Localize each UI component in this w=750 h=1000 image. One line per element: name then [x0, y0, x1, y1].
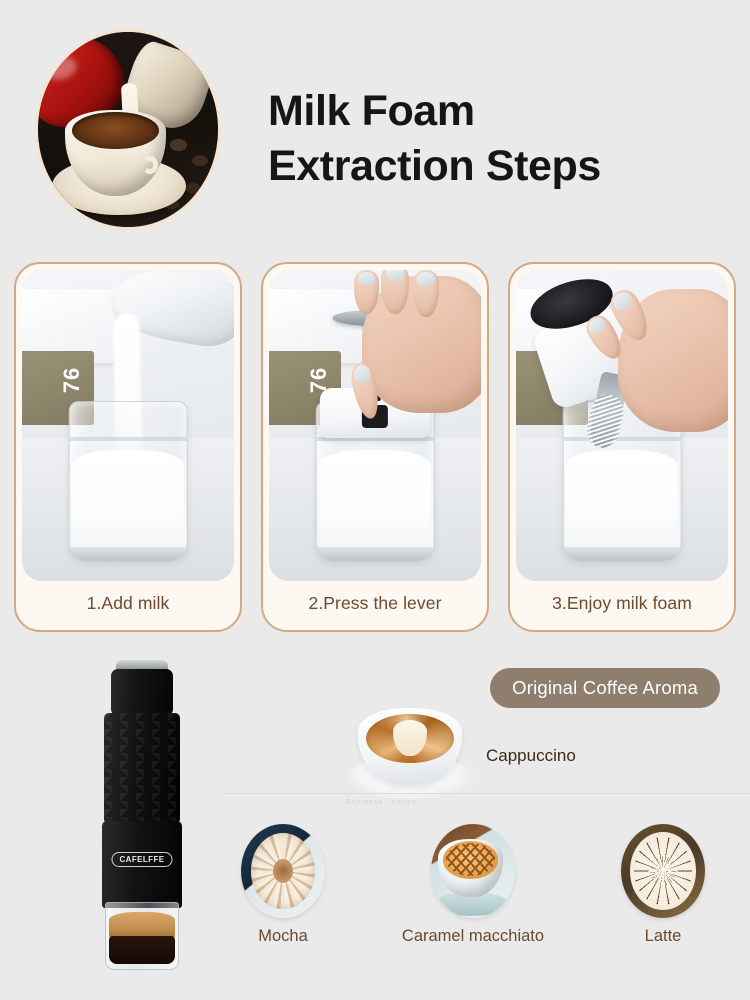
aroma-badge: Original Coffee Aroma: [490, 668, 720, 708]
fingernail: [610, 289, 634, 311]
step-3-photo: 76: [516, 270, 728, 581]
glass-rim-band: [564, 437, 681, 441]
glass-base: [317, 547, 434, 561]
glass-base: [564, 547, 681, 561]
mocha-label: Mocha: [258, 927, 308, 946]
mocha-cream-swirl: [251, 833, 315, 908]
finger: [413, 270, 438, 317]
caramel-macchiato-label: Caramel macchiato: [402, 927, 544, 946]
fingernail: [386, 270, 405, 281]
machine-top-chamber: [111, 669, 174, 716]
frother-glass: [69, 401, 188, 563]
glass-base: [70, 547, 187, 561]
drink-item-caramel-macchiato[interactable]: Caramel macchiato: [398, 824, 548, 946]
drink-item-mocha[interactable]: Mocha: [208, 824, 358, 946]
step-2-photo: 76: [269, 270, 481, 581]
page-title-line-1: Milk Foam: [268, 84, 601, 139]
cup-handle: [142, 156, 158, 173]
latte-star-art: [630, 832, 696, 909]
milk-foam-fill: [566, 450, 678, 562]
espresso-liquid: [109, 936, 175, 964]
mocha-thumbnail: [241, 824, 325, 918]
milk-fill: [319, 450, 431, 562]
page-title-line-2: Extraction Steps: [268, 139, 601, 194]
drink-item-latte[interactable]: Latte: [588, 824, 738, 946]
product-section: CAFELFFE Original Coffee Aroma Espresso …: [0, 646, 750, 1000]
fingernail: [358, 272, 375, 285]
espresso-crema: [109, 912, 175, 938]
machine-textured-grip: [104, 713, 179, 825]
brand-logo: CAFELFFE: [112, 852, 173, 867]
fingernail: [352, 364, 371, 384]
fingernail: [417, 272, 434, 286]
latte-label: Latte: [645, 927, 682, 946]
steps-row: 76 1.Add milk 76: [0, 262, 750, 634]
glass-rim-band: [70, 437, 187, 441]
step-3-caption: 3.Enjoy milk foam: [516, 581, 728, 630]
header-section: Milk Foam Extraction Steps: [0, 0, 750, 250]
step-card-3[interactable]: 76 3.Enjoy milk foam: [508, 262, 736, 632]
drinks-row: Mocha Caramel macchiato Latte: [208, 824, 738, 946]
step-1-caption: 1.Add milk: [22, 581, 234, 630]
section-divider: [222, 793, 750, 794]
hero-image: [38, 32, 218, 227]
rosetta-latte-art: [366, 714, 453, 764]
hero-coffee-illustration: [38, 32, 218, 227]
machine-glass-cup: [105, 902, 179, 970]
watermark-text: Espresso / coffee: [346, 799, 417, 806]
step-card-1[interactable]: 76 1.Add milk: [14, 262, 242, 632]
latte-thumbnail: [621, 824, 705, 918]
step-card-2[interactable]: 76 2.Pr: [261, 262, 489, 632]
caramel-macchiato-thumbnail: [431, 824, 515, 918]
cappuccino-image: [342, 708, 478, 800]
milk-fill: [72, 450, 184, 562]
box-code-label: 76: [60, 367, 86, 393]
page-title: Milk Foam Extraction Steps: [268, 84, 601, 194]
cappuccino-label: Cappuccino: [486, 746, 576, 766]
step-2-caption: 2.Press the lever: [269, 581, 481, 630]
step-1-photo: 76: [22, 270, 234, 581]
espresso-machine-image: CAFELFFE: [96, 660, 188, 970]
coffee-surface: [72, 112, 158, 149]
caramel-drizzle-art: [443, 841, 498, 879]
